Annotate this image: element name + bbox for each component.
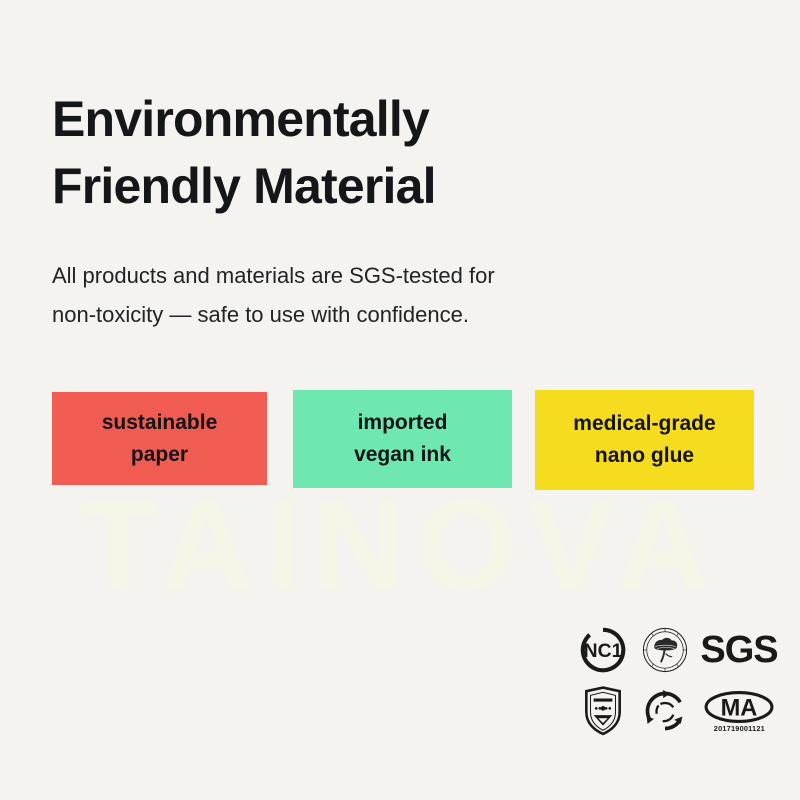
cma-certification-icon: MA 201719001121	[696, 680, 782, 742]
page-subtitle-line-2: non-toxicity — safe to use with confiden…	[52, 295, 652, 334]
page-title-line-1: Environmentally	[52, 86, 692, 153]
tag-label-line-2: vegan ink	[354, 439, 451, 471]
page-subtitle: All products and materials are SGS-teste…	[52, 256, 652, 334]
sgs-certification-icon: SGS	[696, 620, 782, 680]
svg-text:NC1: NC1	[584, 641, 623, 662]
page-subtitle-line-1: All products and materials are SGS-teste…	[52, 256, 652, 295]
certification-badge-grid: NC1	[572, 620, 782, 748]
forest-seal-certification-icon	[634, 620, 696, 680]
tag-label-line-1: imported	[358, 407, 448, 439]
recycling-certification-icon	[634, 680, 696, 742]
shield-certification-icon	[572, 680, 634, 742]
tag-sustainable-paper[interactable]: sustainable paper	[52, 392, 267, 485]
tag-imported-vegan-ink[interactable]: imported vegan ink	[293, 390, 512, 488]
tag-medical-grade-nano-glue[interactable]: medical-grade nano glue	[535, 390, 754, 490]
material-tag-list: sustainable paper imported vegan ink med…	[52, 390, 754, 490]
poster-canvas: TAINOVA Environmentally Friendly Materia…	[0, 0, 800, 800]
page-title: Environmentally Friendly Material	[52, 86, 692, 220]
cma-licence-code: 201719001121	[713, 726, 764, 733]
tag-label-line-2: nano glue	[595, 440, 694, 472]
page-title-line-2: Friendly Material	[52, 153, 692, 220]
tag-label-line-2: paper	[131, 439, 188, 471]
nc1-certification-icon: NC1	[572, 620, 634, 680]
tag-label-line-1: medical-grade	[573, 408, 715, 440]
svg-text:MA: MA	[721, 695, 758, 721]
tag-label-line-1: sustainable	[102, 407, 218, 439]
brand-watermark: TAINOVA	[0, 482, 800, 610]
